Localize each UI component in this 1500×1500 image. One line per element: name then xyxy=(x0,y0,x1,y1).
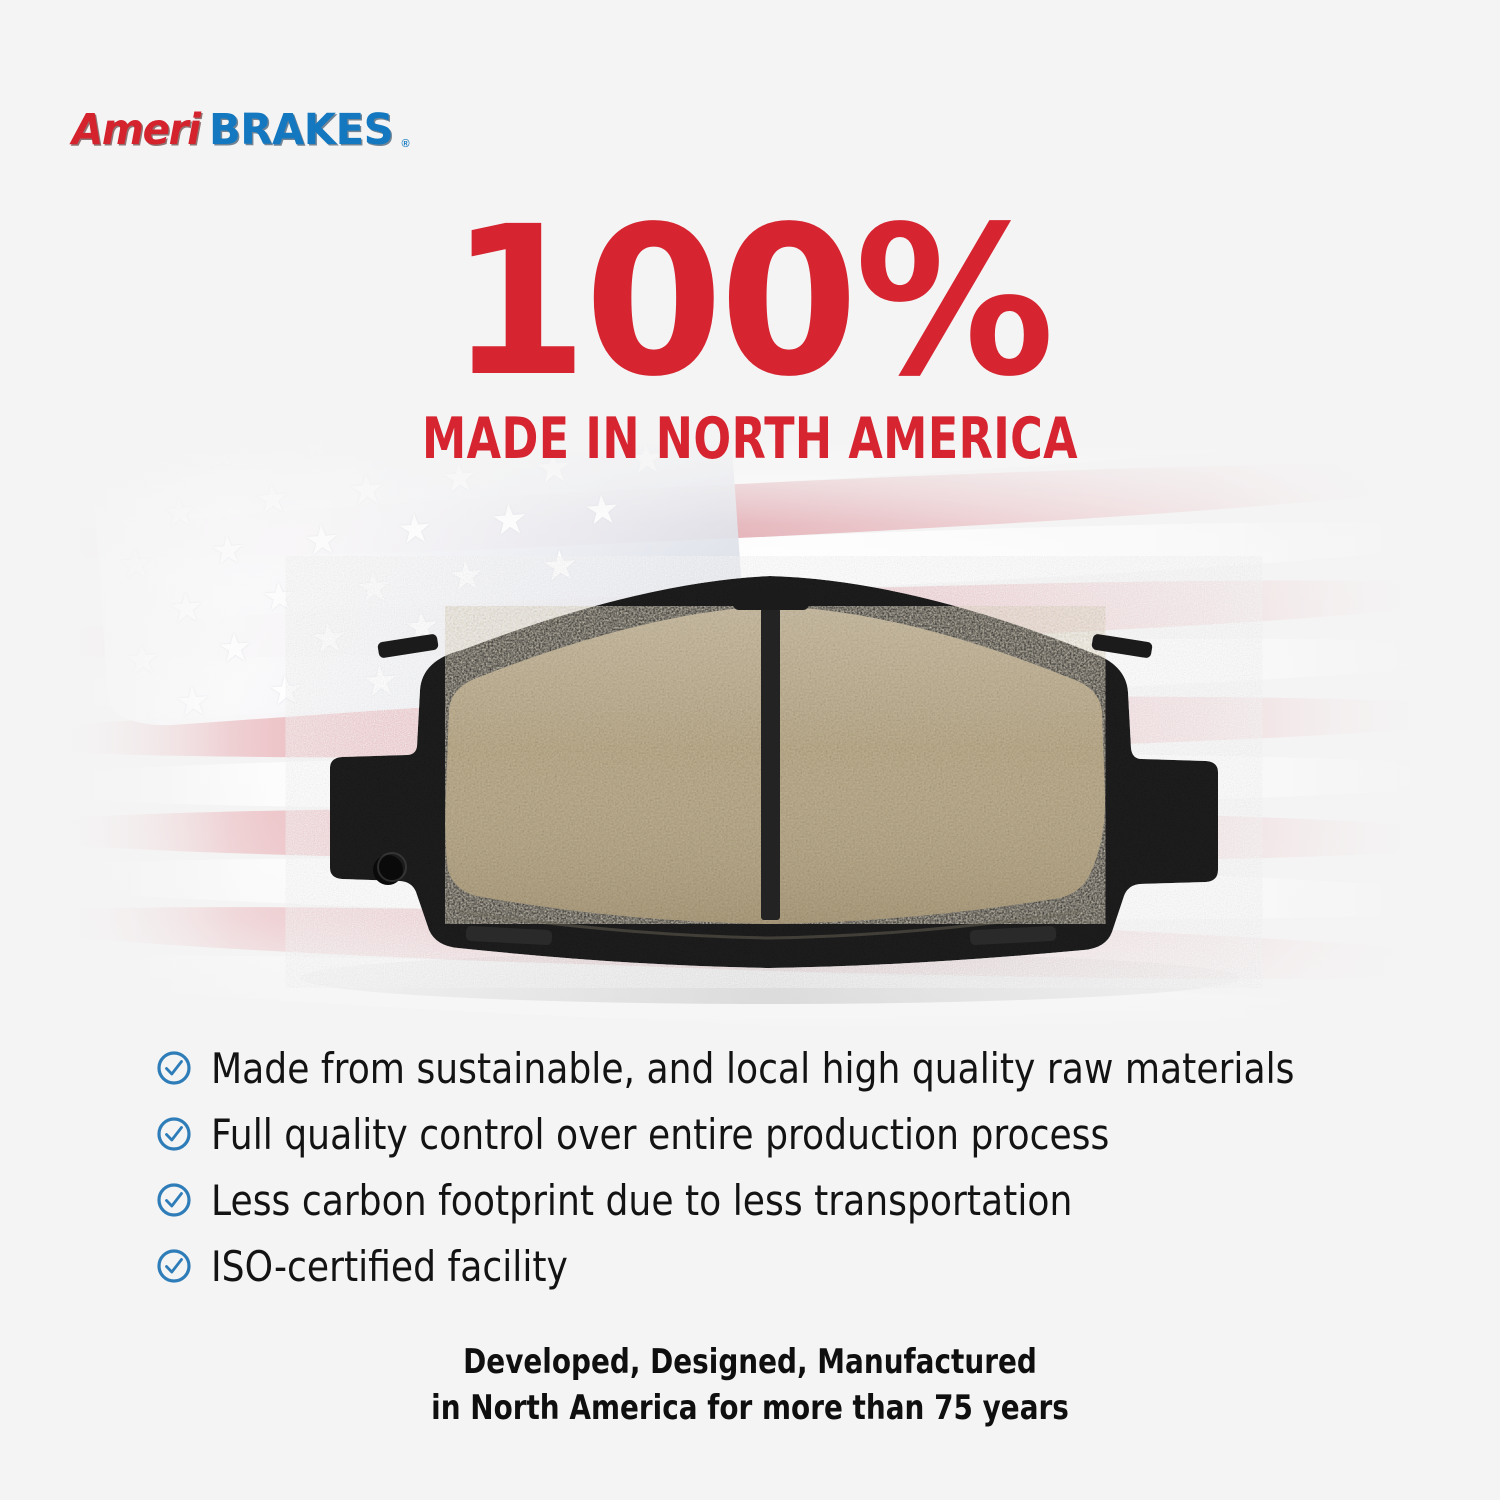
check-circle-icon xyxy=(155,1049,193,1087)
flag-star-icon: ★ xyxy=(489,498,529,543)
feature-list: Made from sustainable, and local high qu… xyxy=(155,1035,1355,1299)
page-subtitle: MADE IN NORTH AMERICA xyxy=(165,411,1335,468)
flag-star-icon: ★ xyxy=(115,542,155,587)
logo-text-brakes: BRAKES xyxy=(209,109,393,152)
flag-star-icon: ★ xyxy=(347,468,387,513)
check-circle-icon xyxy=(155,1115,193,1153)
center-slot-cap xyxy=(733,588,809,610)
registered-trademark-icon: ® xyxy=(402,139,410,150)
brake-pad-product-image xyxy=(210,540,1320,1010)
flag-star-icon: ★ xyxy=(122,638,162,683)
list-item-label: Less carbon footprint due to less transp… xyxy=(211,1176,1072,1225)
logo-text-ameri: Ameri xyxy=(72,109,200,152)
flag-star-icon: ★ xyxy=(253,478,292,520)
center-slot xyxy=(761,608,780,920)
list-item-label: ISO-certified facility xyxy=(211,1242,568,1291)
footer-block: Developed, Designed, Manufactured in Nor… xyxy=(0,1340,1500,1432)
list-item: Less carbon footprint due to less transp… xyxy=(155,1167,1355,1233)
headline-block: 100% MADE IN NORTH AMERICA xyxy=(0,212,1500,468)
list-item: Made from sustainable, and local high qu… xyxy=(155,1035,1355,1101)
flag-star-icon: ★ xyxy=(583,489,622,531)
ameribrakes-logo: Ameri BRAKES ® xyxy=(72,100,410,152)
flag-star-icon: ★ xyxy=(167,586,207,629)
footer-line-1: Developed, Designed, Manufactured xyxy=(135,1340,1365,1386)
list-item: Full quality control over entire product… xyxy=(155,1101,1355,1167)
check-circle-icon xyxy=(155,1181,193,1219)
marketing-poster: Ameri BRAKES ® ★ ★ ★ ★ ★ ★ ★ ★ ★ ★ ★ ★ ★ xyxy=(0,0,1500,1500)
wear-indicator-tab-right xyxy=(1091,633,1153,658)
check-circle-icon xyxy=(155,1247,193,1285)
list-item: ISO-certified facility xyxy=(155,1233,1355,1299)
wear-indicator-tab-left xyxy=(377,633,439,658)
list-item-label: Full quality control over entire product… xyxy=(211,1110,1109,1159)
list-item-label: Made from sustainable, and local high qu… xyxy=(211,1044,1294,1093)
flag-star-icon: ★ xyxy=(160,491,200,534)
page-title-percent: 100% xyxy=(23,212,1478,393)
flag-star-icon: ★ xyxy=(173,680,213,723)
footer-line-2: in North America for more than 75 years xyxy=(135,1386,1365,1432)
